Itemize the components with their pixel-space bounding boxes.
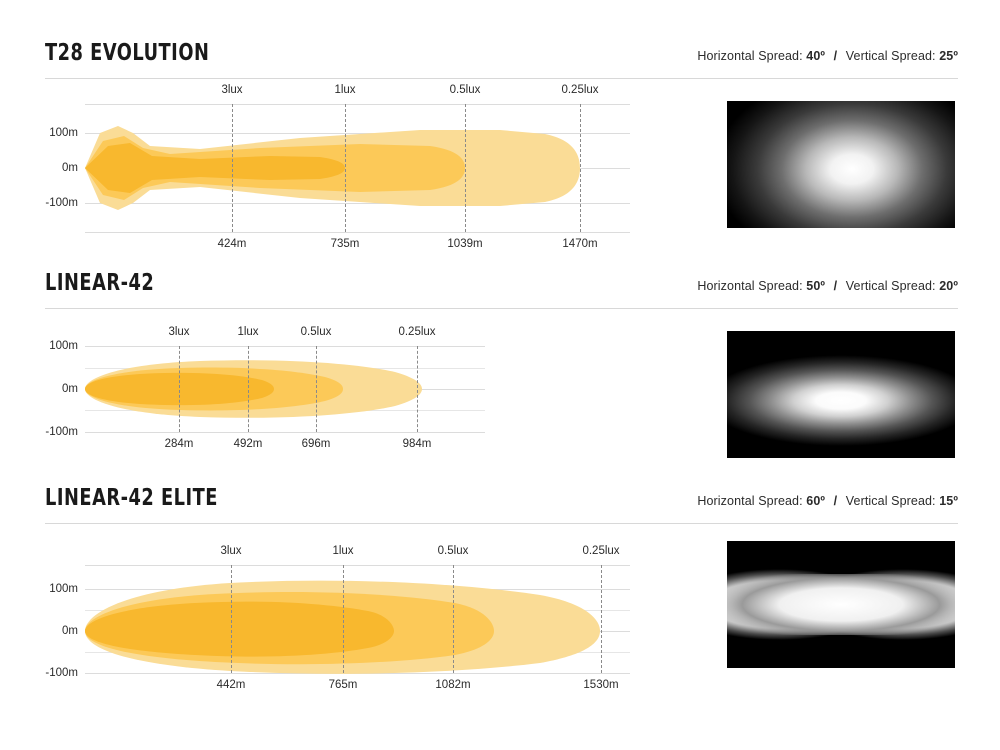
distance-label: 442m (217, 679, 246, 691)
lux-label: 0.25lux (582, 545, 619, 557)
spread-separator: / (829, 49, 843, 63)
y-axis-label: -100m (0, 197, 78, 209)
lux-tick-line (417, 346, 418, 432)
vertical-spread-value: 25º (939, 49, 958, 63)
beam-pattern-photo-linear-42-elite (727, 541, 955, 668)
lux-tick-line (231, 565, 232, 673)
product-section-linear-42: LINEAR-42 Horizontal Spread: 50º / Verti… (0, 270, 1000, 312)
section-header: T28 EVOLUTION Horizontal Spread: 40º / V… (0, 40, 1000, 82)
lux-label: 0.5lux (301, 326, 332, 338)
header-divider (45, 308, 958, 309)
section-header: LINEAR-42 Horizontal Spread: 50º / Verti… (0, 270, 1000, 312)
lux-label: 1lux (332, 545, 353, 557)
lux-label: 1lux (237, 326, 258, 338)
beam-distance-chart: 100m 0m -100m 3lux 1lux 0.5lux 0.25lux 2… (0, 316, 700, 456)
section-header: LINEAR-42 ELITE Horizontal Spread: 60º /… (0, 485, 1000, 527)
vertical-spread-value: 20º (939, 279, 958, 293)
horizontal-spread-label: Horizontal Spread: (697, 279, 802, 293)
header-divider (45, 78, 958, 79)
y-axis-label: 0m (0, 162, 78, 174)
spread-separator: / (829, 279, 843, 293)
lux-tick-line (232, 104, 233, 232)
distance-label: 696m (302, 438, 331, 450)
spread-info: Horizontal Spread: 50º / Vertical Spread… (697, 279, 958, 293)
distance-label: 984m (403, 438, 432, 450)
beam-pattern-photo-linear-42 (727, 331, 955, 458)
distance-label: 284m (165, 438, 194, 450)
lux-label: 1lux (334, 84, 355, 96)
beam-glow (727, 101, 955, 228)
page-title: LINEAR-42 ELITE (45, 485, 218, 511)
lux-tick-line (453, 565, 454, 673)
vertical-spread-value: 15º (939, 494, 958, 508)
lux-label: 0.25lux (561, 84, 598, 96)
lux-label: 0.5lux (450, 84, 481, 96)
distance-label: 1470m (562, 238, 597, 250)
beam-distance-chart: 100m 0m -100m 3lux 1lux 0.5lux 0.25lux 4… (0, 86, 700, 246)
distance-label: 424m (218, 238, 247, 250)
beam-spread-graphic (0, 316, 700, 456)
vertical-spread-label: Vertical Spread: (846, 49, 936, 63)
lux-tick-line (465, 104, 466, 232)
horizontal-spread-value: 50º (806, 279, 825, 293)
vertical-spread-label: Vertical Spread: (846, 494, 936, 508)
lux-tick-line (580, 104, 581, 232)
horizontal-spread-value: 60º (806, 494, 825, 508)
lux-tick-line (345, 104, 346, 232)
y-axis-label: 0m (0, 383, 78, 395)
y-axis-label: 0m (0, 625, 78, 637)
beam-distance-chart: 100m 0m -100m 3lux 1lux 0.5lux 0.25lux 4… (0, 531, 700, 701)
lux-label: 3lux (168, 326, 189, 338)
lux-tick-line (248, 346, 249, 432)
lux-tick-line (316, 346, 317, 432)
lux-tick-line (179, 346, 180, 432)
lux-tick-line (601, 565, 602, 673)
beam-layer-3lux (85, 377, 215, 401)
lux-label: 0.25lux (398, 326, 435, 338)
horizontal-spread-label: Horizontal Spread: (697, 494, 802, 508)
distance-label: 492m (234, 438, 263, 450)
y-axis-label: 100m (0, 583, 78, 595)
distance-label: 1039m (447, 238, 482, 250)
y-axis-label: 100m (0, 340, 78, 352)
y-axis-label: -100m (0, 667, 78, 679)
y-axis-label: -100m (0, 426, 78, 438)
beam-comparison-sheet: T28 EVOLUTION Horizontal Spread: 40º / V… (0, 0, 1000, 750)
product-section-t28-evolution: T28 EVOLUTION Horizontal Spread: 40º / V… (0, 40, 1000, 82)
page-title: T28 EVOLUTION (45, 40, 209, 66)
distance-label: 1530m (583, 679, 618, 691)
beam-pattern-photo-t28-evolution (727, 101, 955, 228)
beam-spread-graphic (0, 86, 700, 246)
lux-label: 0.5lux (438, 545, 469, 557)
y-axis-label: 100m (0, 127, 78, 139)
spread-info: Horizontal Spread: 60º / Vertical Spread… (697, 494, 958, 508)
spread-separator: / (829, 494, 843, 508)
vertical-spread-label: Vertical Spread: (846, 279, 936, 293)
horizontal-spread-label: Horizontal Spread: (697, 49, 802, 63)
beam-glow (727, 574, 955, 635)
distance-label: 735m (331, 238, 360, 250)
page-title: LINEAR-42 (45, 270, 154, 296)
lux-tick-line (343, 565, 344, 673)
beam-glow (727, 331, 955, 458)
horizontal-spread-value: 40º (806, 49, 825, 63)
product-section-linear-42-elite: LINEAR-42 ELITE Horizontal Spread: 60º /… (0, 485, 1000, 527)
spread-info: Horizontal Spread: 40º / Vertical Spread… (697, 49, 958, 63)
distance-label: 1082m (435, 679, 470, 691)
lux-label: 3lux (220, 545, 241, 557)
lux-label: 3lux (221, 84, 242, 96)
header-divider (45, 523, 958, 524)
distance-label: 765m (329, 679, 358, 691)
